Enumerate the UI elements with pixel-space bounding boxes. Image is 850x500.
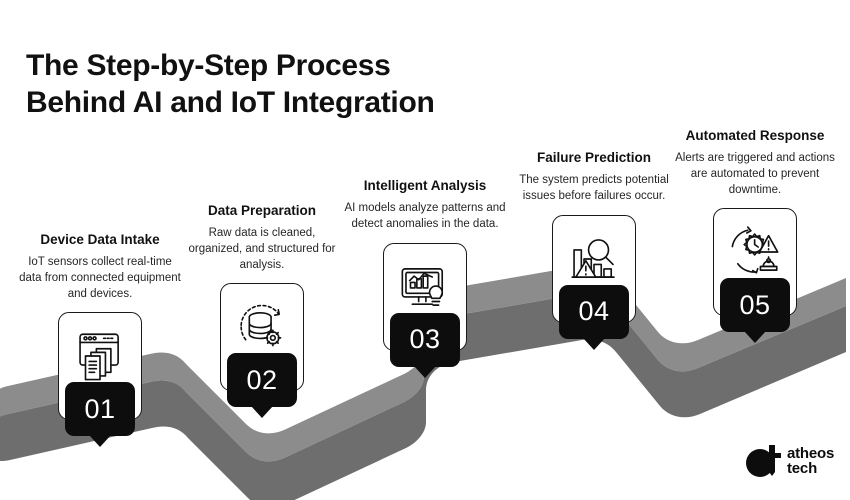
step-03-badge[interactable]: 03 <box>390 313 460 367</box>
step-03-description: AI models analyze patterns and detect an… <box>330 201 520 233</box>
atheos-monogram-icon <box>744 441 784 481</box>
step-02-title: Data Preparation <box>167 203 357 220</box>
step-05-badge[interactable]: 05 <box>720 278 790 332</box>
step-05-card-wrap: 05 <box>660 208 850 316</box>
step-02-description: Raw data is cleaned, organized, and stru… <box>167 226 357 274</box>
step-02-head: Data Preparation Raw data is cleaned, or… <box>167 203 357 273</box>
step-05: Automated Response Alerts are triggered … <box>660 128 850 316</box>
step-02-card-wrap: 02 <box>167 283 357 391</box>
step-01-badge[interactable]: 01 <box>65 382 135 436</box>
step-05-head: Automated Response Alerts are triggered … <box>660 128 850 198</box>
step-03: Intelligent Analysis AI models analyze p… <box>330 178 520 351</box>
logo-wordmark: atheos tech <box>787 446 834 476</box>
browser-documents-icon <box>71 327 129 385</box>
step-02: Data Preparation Raw data is cleaned, or… <box>167 203 357 391</box>
brand-logo[interactable]: atheos tech <box>744 441 834 481</box>
step-04-badge[interactable]: 04 <box>559 285 629 339</box>
step-05-title: Automated Response <box>660 128 850 145</box>
step-02-badge[interactable]: 02 <box>227 353 297 407</box>
page-title: The Step-by-Step Process Behind AI and I… <box>26 48 546 121</box>
gear-clock-alarm-warning-icon <box>726 223 784 281</box>
step-03-card-wrap: 03 <box>330 243 520 351</box>
infographic-canvas: The Step-by-Step Process Behind AI and I… <box>0 0 850 500</box>
chart-magnifier-warning-icon <box>565 230 623 288</box>
database-gear-refresh-icon <box>233 298 291 356</box>
step-05-description: Alerts are triggered and actions are aut… <box>660 151 850 199</box>
step-03-title: Intelligent Analysis <box>330 178 520 195</box>
monitor-chart-lightbulb-icon <box>396 258 454 316</box>
step-03-head: Intelligent Analysis AI models analyze p… <box>330 178 520 233</box>
